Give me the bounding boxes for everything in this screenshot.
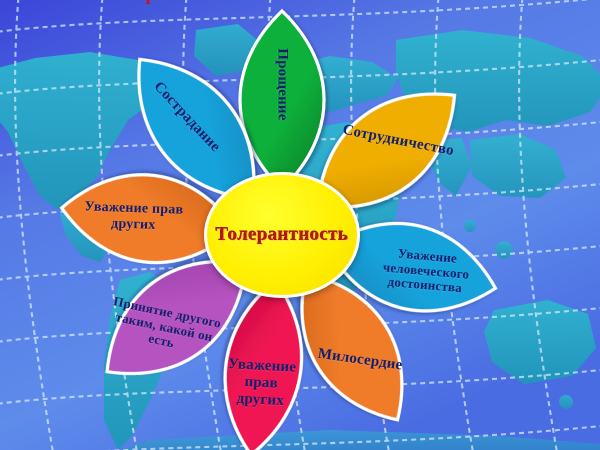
center-label: Толерантность xyxy=(216,224,349,246)
center-circle[interactable]: Толерантность xyxy=(204,172,360,298)
tolerance-flower-infographic: Т ПрощениеСотрудничествоУважение человеч… xyxy=(0,0,600,450)
